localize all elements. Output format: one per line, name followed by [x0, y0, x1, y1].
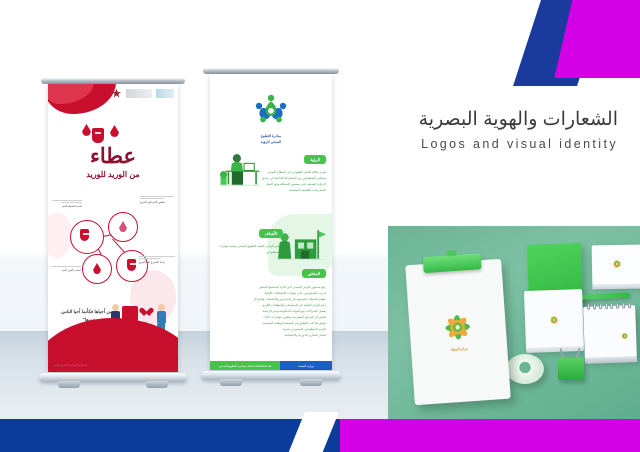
- volunteer-list: رفع مستوى الوعي الصحي لدى أفراد المجتمع …: [216, 284, 326, 338]
- diagram-node-2: [108, 212, 138, 242]
- volunteer-section-2: الأهداف نشر الوعي بأهمية التطوع الصحي وت…: [216, 222, 326, 255]
- diagram-callout-2: فحص الدم قبل التبرع: [140, 196, 174, 204]
- blood-drop-icon: [82, 124, 91, 136]
- banner-blood-title: عطاء: [48, 146, 178, 167]
- banner-blood-subtitle: من الوريد للوريد: [48, 170, 178, 179]
- blood-bag-icon: [92, 128, 104, 143]
- heading-english: Logos and visual identity: [358, 137, 618, 151]
- clipboard-logo-text: مركز العطاء: [441, 346, 477, 353]
- ministry-logo-icon: [111, 88, 122, 99]
- volunteer-tag-3: المحاور: [302, 269, 326, 278]
- blood-wave-bottom: [48, 300, 178, 372]
- rollup-banner-volunteer[interactable]: مبادرة التطوع الصحي للرؤية: [210, 68, 332, 386]
- white-notepad: [524, 289, 584, 349]
- spiral-notepad: [583, 305, 637, 359]
- starburst-logo-icon: [438, 308, 476, 346]
- diagram-callout-1: تحديد فصيلة الدم: [52, 200, 82, 208]
- volunteer-footer-blue: وزارة الصحة: [280, 361, 332, 370]
- partner-logo-3: [156, 89, 174, 98]
- spiral-rings: [587, 302, 631, 310]
- banner-volunteer-artwork: مبادرة التطوع الصحي للرؤية: [210, 74, 332, 370]
- banner-foot-left: [58, 381, 80, 388]
- volunteer-body-2: نشر الوعي بأهمية التطوع الصحي وتنمية مها…: [216, 243, 280, 255]
- volunteer-section-3: المحاور رفع مستوى الوعي الصحي لدى أفراد …: [216, 262, 326, 338]
- stationery-mockup-photo: مركز العطاء: [388, 226, 640, 419]
- volunteer-star-icon: [249, 90, 293, 130]
- diagram-callout-4: سحب كيس الدم: [51, 266, 81, 272]
- volunteer-footer-bar: www.volunteer.sa | مبادرة التطوع الصحي و…: [210, 361, 332, 370]
- brand-seal-icon-3: [620, 331, 629, 340]
- footer-band-magenta: [310, 419, 640, 452]
- section-heading: الشعارات والهوية البصرية Logos and visua…: [358, 108, 618, 151]
- banner-foot-right: [146, 381, 168, 388]
- binder-clip: [556, 348, 586, 380]
- banner-blood-footnote: الحملة الوطنية للتبرع بالدم: [54, 363, 87, 367]
- volunteer-tag-1: الرؤية: [304, 155, 326, 164]
- volunteer-section-1: الرؤية تعزيز ثقافة العمل التطوعي في القط…: [216, 148, 326, 193]
- clipboard-clip: [423, 253, 482, 273]
- blood-process-diagram: [56, 202, 170, 297]
- volunteer-logo-line-2: الصحي للرؤية: [210, 139, 332, 145]
- volunteer-tag-2: الأهداف: [259, 229, 284, 238]
- diagram-node-3: [82, 254, 112, 284]
- banner-foot-left-2: [220, 379, 242, 386]
- diagram-callout-3: راحة المتبرع بعد التبرع: [139, 256, 175, 264]
- clipboard: مركز العطاء: [405, 259, 511, 405]
- volunteer-logo: مبادرة التطوع الصحي للرؤية: [210, 90, 332, 146]
- brand-seal-icon-2: [548, 314, 559, 325]
- volunteer-body-1: تعزيز ثقافة العمل التطوعي في القطاع الصح…: [258, 169, 326, 193]
- footer-band-blue: [0, 419, 340, 452]
- partner-logo-2: [126, 89, 152, 98]
- volunteer-footer-green: www.volunteer.sa | مبادرة التطوع الصحي: [210, 361, 280, 370]
- list-item: إصدار التقارير الدورية والإحصائية: [216, 332, 326, 338]
- note-card: [592, 245, 640, 286]
- masking-tape-roll: [506, 354, 544, 384]
- heading-arabic: الشعارات والهوية البصرية: [358, 108, 618, 132]
- slide-canvas: عطاء من الوريد للوريد: [0, 0, 640, 452]
- blood-drop-icon-2: [110, 125, 119, 137]
- blood-title-block: عطاء من الوريد للوريد: [48, 124, 178, 179]
- diagram-node-4: [116, 250, 148, 282]
- diagram-node-1: [70, 220, 104, 254]
- brand-seal-icon: [611, 259, 622, 270]
- rollup-banner-blood-donation[interactable]: عطاء من الوريد للوريد: [48, 78, 178, 388]
- banner-foot-right-2: [300, 379, 322, 386]
- clipboard-brand-logo: مركز العطاء: [438, 308, 477, 352]
- banner-blood-artwork: عطاء من الوريد للوريد: [48, 84, 178, 372]
- partner-logos: [111, 88, 174, 99]
